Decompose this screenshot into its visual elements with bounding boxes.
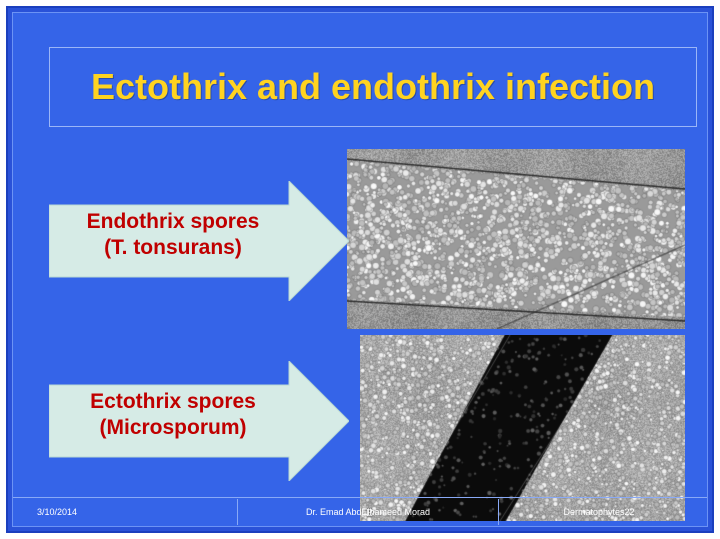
callout-endothrix: Endothrix spores (T. tonsurans) <box>49 181 349 301</box>
callout-endothrix-line2: (T. tonsurans) <box>49 235 297 261</box>
callout-ectothrix: Ectothrix spores (Microsporum) <box>49 361 349 481</box>
callout-endothrix-line1: Endothrix spores <box>87 210 260 233</box>
title-box: Ectothrix and endothrix infection <box>49 47 697 127</box>
callout-endothrix-text: Endothrix spores (T. tonsurans) <box>49 209 297 260</box>
footer-date: 3/10/2014 <box>13 498 237 526</box>
footer-author: Dr. Emad AbdElhameed Morad <box>238 498 498 526</box>
endothrix-micrograph <box>347 149 685 329</box>
page-title: Ectothrix and endothrix infection <box>91 66 655 108</box>
footer: 3/10/2014 Dr. Emad AbdElhameed Morad Der… <box>13 498 707 526</box>
footer-reference: Dermatophytes22 <box>499 498 707 526</box>
slide-canvas: Ectothrix and endothrix infection B Endo… <box>0 0 720 539</box>
callout-ectothrix-text: Ectothrix spores (Microsporum) <box>49 389 297 440</box>
callout-ectothrix-line1: Ectothrix spores <box>90 390 256 413</box>
callout-ectothrix-line2: (Microsporum) <box>49 415 297 441</box>
slide-body: Ectothrix and endothrix infection B Endo… <box>12 12 708 527</box>
ectothrix-micrograph-canvas <box>360 335 685 521</box>
endothrix-micrograph-canvas <box>347 149 685 329</box>
ectothrix-micrograph: B <box>360 335 685 521</box>
